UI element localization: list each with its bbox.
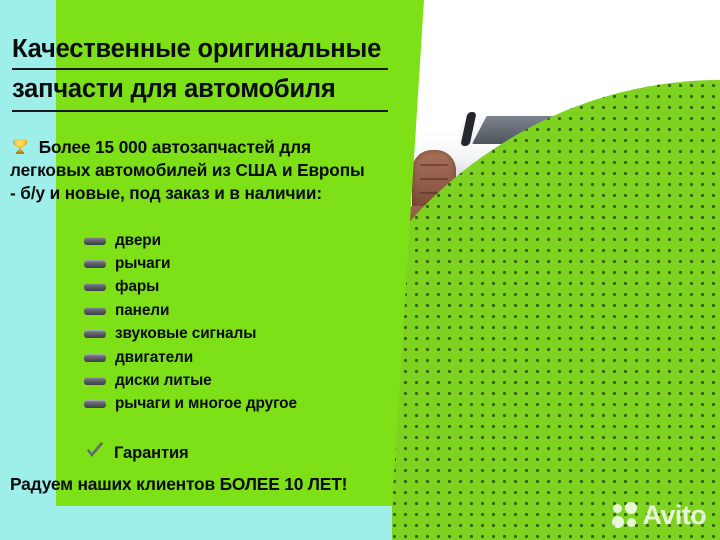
headline-rule-2 bbox=[12, 110, 388, 112]
list-item-label: рычаги bbox=[115, 255, 170, 273]
dash-bullet-icon bbox=[84, 400, 106, 408]
headline-rule-1 bbox=[12, 68, 388, 70]
list-item: фары bbox=[84, 276, 414, 299]
list-item-label: рычаги и многое другое bbox=[115, 395, 297, 413]
advert-canvas: Качественные оригинальные запчасти для а… bbox=[0, 0, 720, 540]
check-mark-icon bbox=[84, 440, 106, 467]
dash-bullet-icon bbox=[84, 260, 106, 268]
list-item: рычаги bbox=[84, 252, 414, 275]
avito-wordmark: Avito bbox=[643, 502, 707, 528]
list-item: рычаги и многое другое bbox=[84, 393, 414, 416]
list-item-label: двигатели bbox=[115, 349, 193, 367]
dash-bullet-icon bbox=[84, 237, 106, 245]
list-item-label: двери bbox=[115, 232, 161, 250]
parts-list: двери рычаги фары панели звуковые сигнал… bbox=[84, 229, 414, 416]
list-item-label: фары bbox=[115, 278, 159, 296]
dash-bullet-icon bbox=[84, 330, 106, 338]
avito-dots-logo bbox=[612, 502, 638, 528]
list-item: панели bbox=[84, 299, 414, 322]
dash-bullet-icon bbox=[84, 283, 106, 291]
list-item-label: панели bbox=[115, 302, 169, 320]
dash-bullet-icon bbox=[84, 307, 106, 315]
lede-line-1: Более 15 000 автозапчастей для bbox=[39, 137, 311, 157]
lede-line-2: легковых автомобилей из США и Европы bbox=[10, 160, 365, 180]
headline-line-2: запчасти для автомобиля bbox=[12, 74, 410, 105]
list-item: диски литые bbox=[84, 369, 414, 392]
seat-stitch bbox=[420, 164, 448, 166]
list-item: звуковые сигналы bbox=[84, 323, 414, 346]
guarantee-block: Гарантия bbox=[84, 440, 189, 467]
avito-watermark: Avito bbox=[612, 502, 707, 528]
dash-bullet-icon bbox=[84, 377, 106, 385]
dash-bullet-icon bbox=[84, 354, 106, 362]
trophy-icon bbox=[10, 137, 39, 157]
seat-stitch bbox=[420, 178, 448, 180]
list-item-label: диски литые bbox=[115, 372, 212, 390]
lede-block: Более 15 000 автозапчастей для легковых … bbox=[10, 136, 414, 205]
advert-content: Качественные оригинальные запчасти для а… bbox=[0, 0, 420, 540]
list-item-label: звуковые сигналы bbox=[115, 325, 256, 343]
list-item: двери bbox=[84, 229, 414, 252]
footer-text: Радуем наших клиентов БОЛЕЕ 10 ЛЕТ! bbox=[10, 474, 347, 495]
headline-line-1: Качественные оригинальные bbox=[12, 34, 410, 65]
list-item: двигатели bbox=[84, 346, 414, 369]
lede-line-3: - б/у и новые, под заказ и в наличии: bbox=[10, 183, 322, 203]
guarantee-label: Гарантия bbox=[114, 444, 189, 463]
headline-block: Качественные оригинальные запчасти для а… bbox=[12, 34, 410, 116]
